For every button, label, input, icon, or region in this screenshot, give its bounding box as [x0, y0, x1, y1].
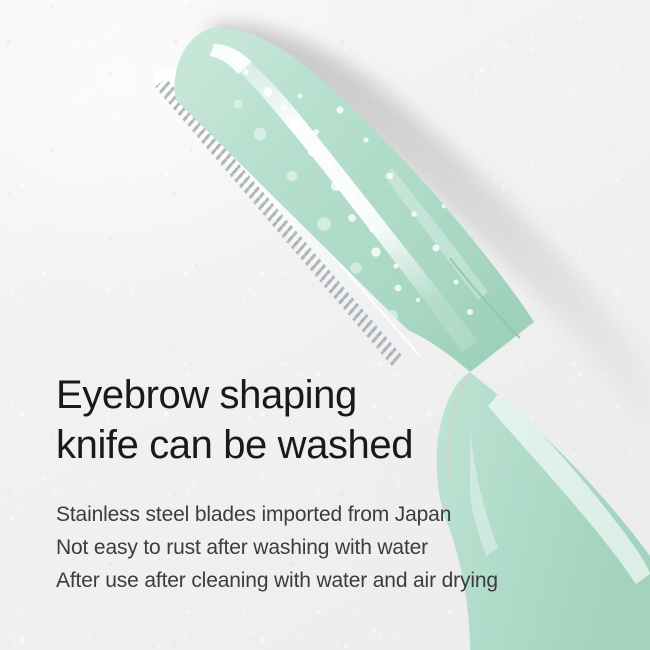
feature-item-3: After use after cleaning with water and … — [56, 564, 596, 597]
feature-item-1: Stainless steel blades imported from Jap… — [56, 498, 596, 531]
feature-list: Stainless steel blades imported from Jap… — [56, 498, 596, 597]
headline-line-1: Eyebrow shaping — [56, 370, 596, 420]
feature-item-2: Not easy to rust after washing with wate… — [56, 531, 596, 564]
headline-line-2: knife can be washed — [56, 420, 596, 470]
product-banner: Eyebrow shaping knife can be washed Stai… — [0, 0, 650, 650]
copy-block: Eyebrow shaping knife can be washed Stai… — [56, 370, 596, 597]
